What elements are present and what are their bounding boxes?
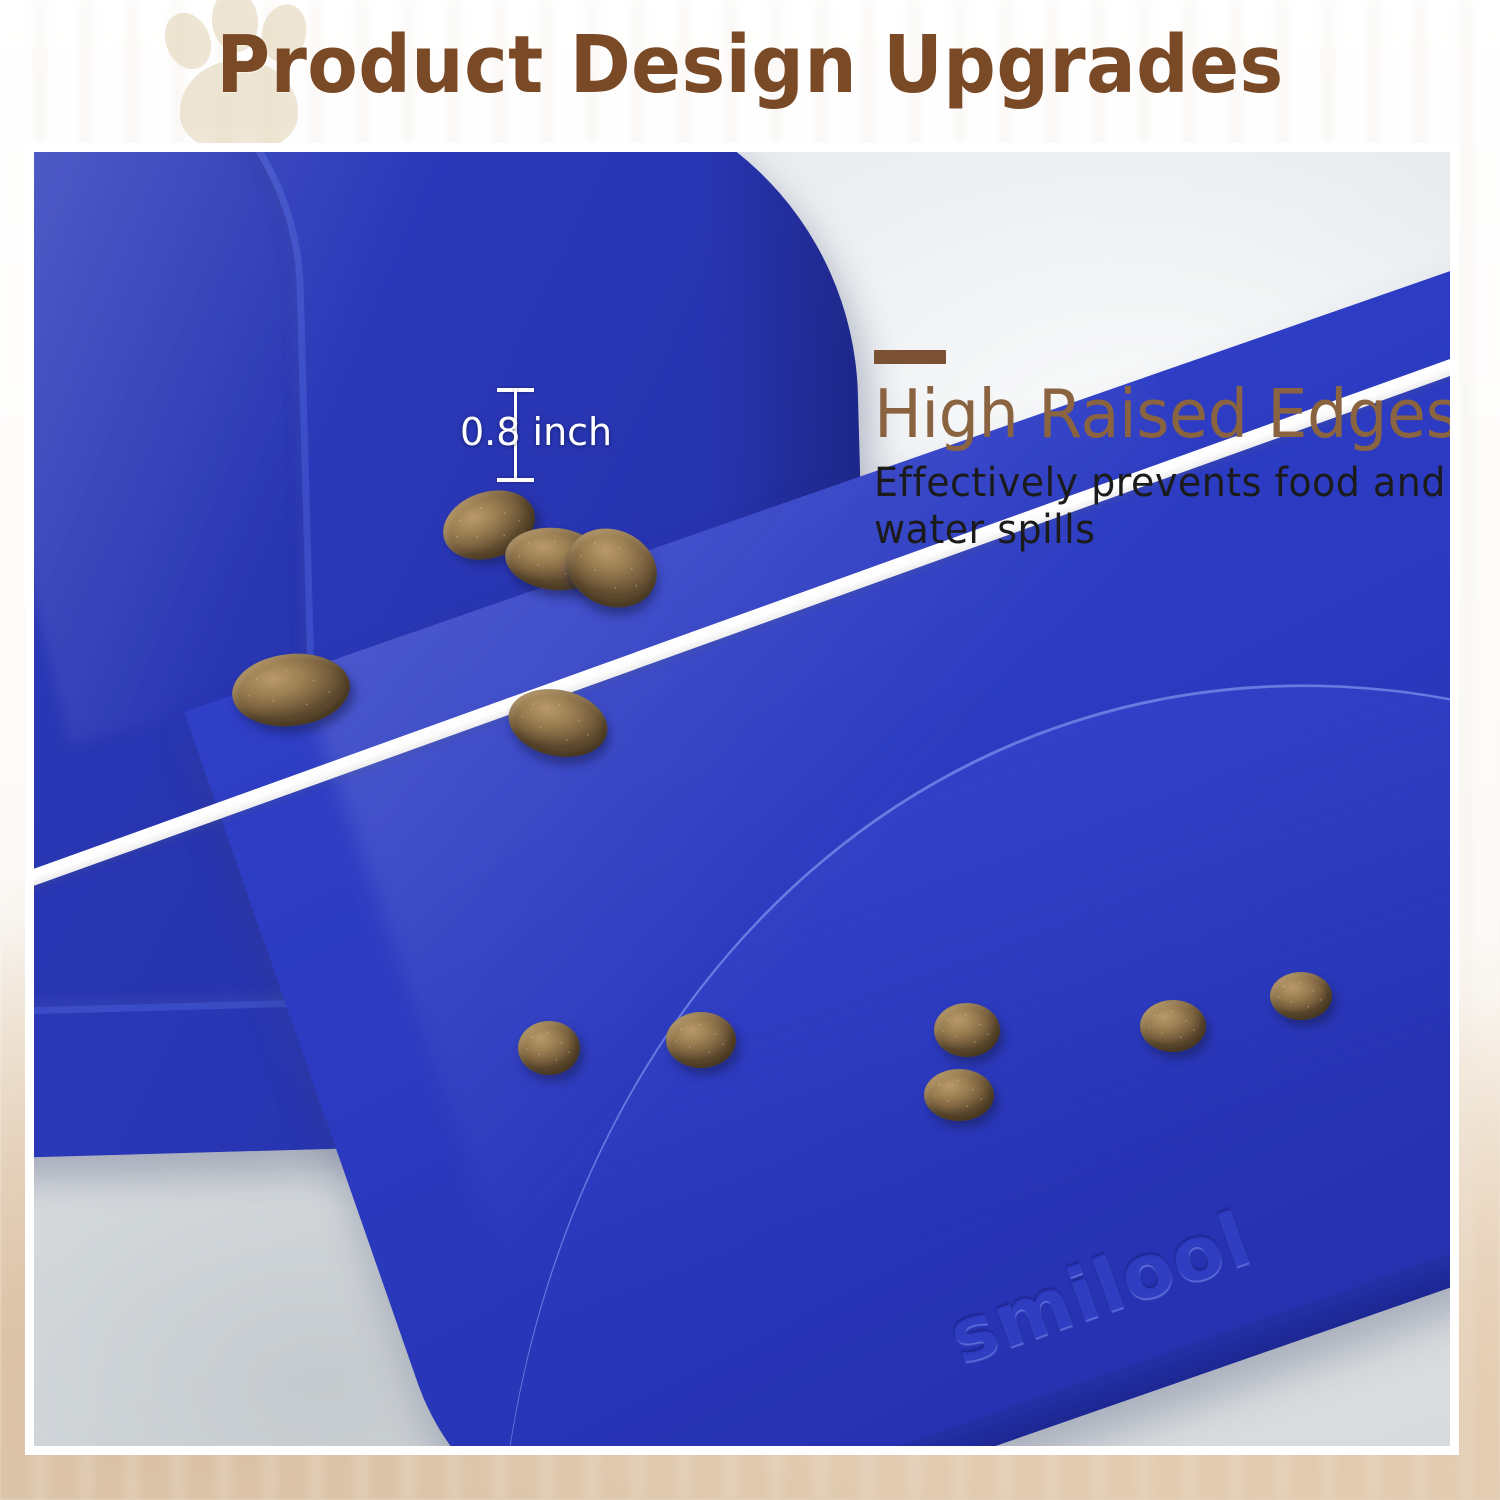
photo-frame: smilool 0.8 inch High Raised Edges Effec… bbox=[25, 143, 1459, 1455]
callout-body: Effectively prevents food and water spil… bbox=[874, 460, 1450, 554]
kibble-piece bbox=[1140, 1000, 1206, 1052]
callout-rule-icon bbox=[874, 350, 946, 364]
kibble-piece bbox=[518, 1021, 580, 1075]
kibble-piece bbox=[666, 1012, 736, 1068]
kibble-piece bbox=[934, 1003, 1000, 1057]
product-infographic: Product Design Upgrades smilool bbox=[0, 0, 1500, 1500]
page-title: Product Design Upgrades bbox=[53, 17, 1448, 113]
callout-high-raised-edges: High Raised Edges Effectively prevents f… bbox=[874, 350, 1450, 554]
callout-heading: High Raised Edges bbox=[874, 376, 1450, 452]
photo-collage: smilool 0.8 inch High Raised Edges Effec… bbox=[34, 152, 1450, 1446]
dimension-cap-bottom bbox=[497, 478, 534, 482]
kibble-piece bbox=[1270, 972, 1332, 1020]
kibble-piece bbox=[924, 1069, 994, 1121]
dimension-label: 0.8 inch bbox=[460, 410, 650, 454]
header-banner: Product Design Upgrades bbox=[0, 0, 1500, 145]
dimension-annotation: 0.8 inch bbox=[482, 380, 662, 490]
